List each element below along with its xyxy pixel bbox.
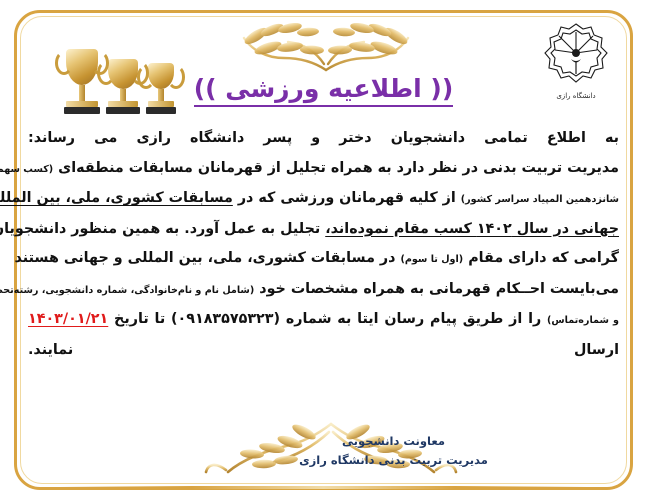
line6-paren: (شامل نام و نام‌خانوادگی، شماره دانشجویی… [0, 285, 254, 296]
lead-sentence: به اطلاع تمامی دانشجویان دختر و پسر دانش… [28, 130, 619, 146]
signature-line-2: مدیریت تربیت بدنی دانشگاه رازی [299, 451, 488, 470]
line3-text: از کلیه قهرمانان ورزشی که در [238, 190, 456, 206]
signature-line-1: معاونت دانشجویی [299, 432, 488, 451]
line7-text: را از طریق پیام رسان ایتا به شماره (۰۹۱۸… [114, 311, 541, 327]
floral-ornament-icon [196, 14, 456, 76]
page-title-text: (( اطلاعیه ورزشی )) [194, 74, 454, 107]
line2-paren: (کسب سهمیه [0, 164, 53, 175]
poster-header: دانشگاه رازی (( اطلاعیه ورزشی )) [0, 0, 647, 120]
signature-block: معاونت دانشجویی مدیریت تربیت بدنی دانشگا… [0, 432, 647, 470]
line3-underlined: مسابقات کشوری، ملی، بین المللی و [0, 190, 233, 206]
page-title: (( اطلاعیه ورزشی )) [0, 74, 647, 103]
body-line-5: گرامی که دارای مقام (اول تا سوم) در مساب… [28, 244, 619, 275]
line5-paren: (اول تا سوم) [400, 254, 463, 265]
body-line-4: جهانی در سال ۱۴۰۲ کسب مقام نموده‌اند، تج… [28, 215, 619, 245]
announcement-body: به اطلاع تمامی دانشجویان دختر و پسر دانش… [28, 124, 619, 365]
body-line-3: شانزدهمین المپیاد سراسر کشور) از کلیه قه… [28, 184, 619, 215]
body-line-7: و شماره‌تماس) را از طریق پیام رسان ایتا … [28, 305, 619, 336]
announcement-poster: دانشگاه رازی (( اطلاعیه ورزشی )) به اطلا… [0, 0, 647, 500]
line6-text: می‌بایست احــکام قهرمانی به همراه مشخصات… [259, 281, 619, 297]
bottom-gold-rule [60, 486, 587, 489]
line7-paren: و شماره‌تماس) [547, 315, 619, 326]
deadline-date: ۱۴۰۳/۰۱/۲۱ [28, 311, 108, 327]
line4-underlined: جهانی در سال ۱۴۰۲ کسب مقام نموده‌اند، [325, 221, 619, 237]
body-line-lead: به اطلاع تمامی دانشجویان دختر و پسر دانش… [28, 124, 619, 154]
body-line-8: ارسال نمایند. [28, 336, 619, 366]
line5-text-a: گرامی که دارای مقام [468, 250, 619, 266]
line2-main: مدیریت تربیت بدنی در نظر دارد به همراه ت… [58, 160, 619, 176]
body-line-6: می‌بایست احــکام قهرمانی به همراه مشخصات… [28, 275, 619, 306]
body-line-2: مدیریت تربیت بدنی در نظر دارد به همراه ت… [28, 154, 619, 185]
line3-paren: شانزدهمین المپیاد سراسر کشور) [461, 194, 619, 205]
line5-text-b: در مسابقات کشوری، ملی، بین المللی و جهان… [14, 250, 395, 266]
line4-text: تجلیل به عمل آورد. به همین منظور دانشجوی… [0, 221, 320, 237]
